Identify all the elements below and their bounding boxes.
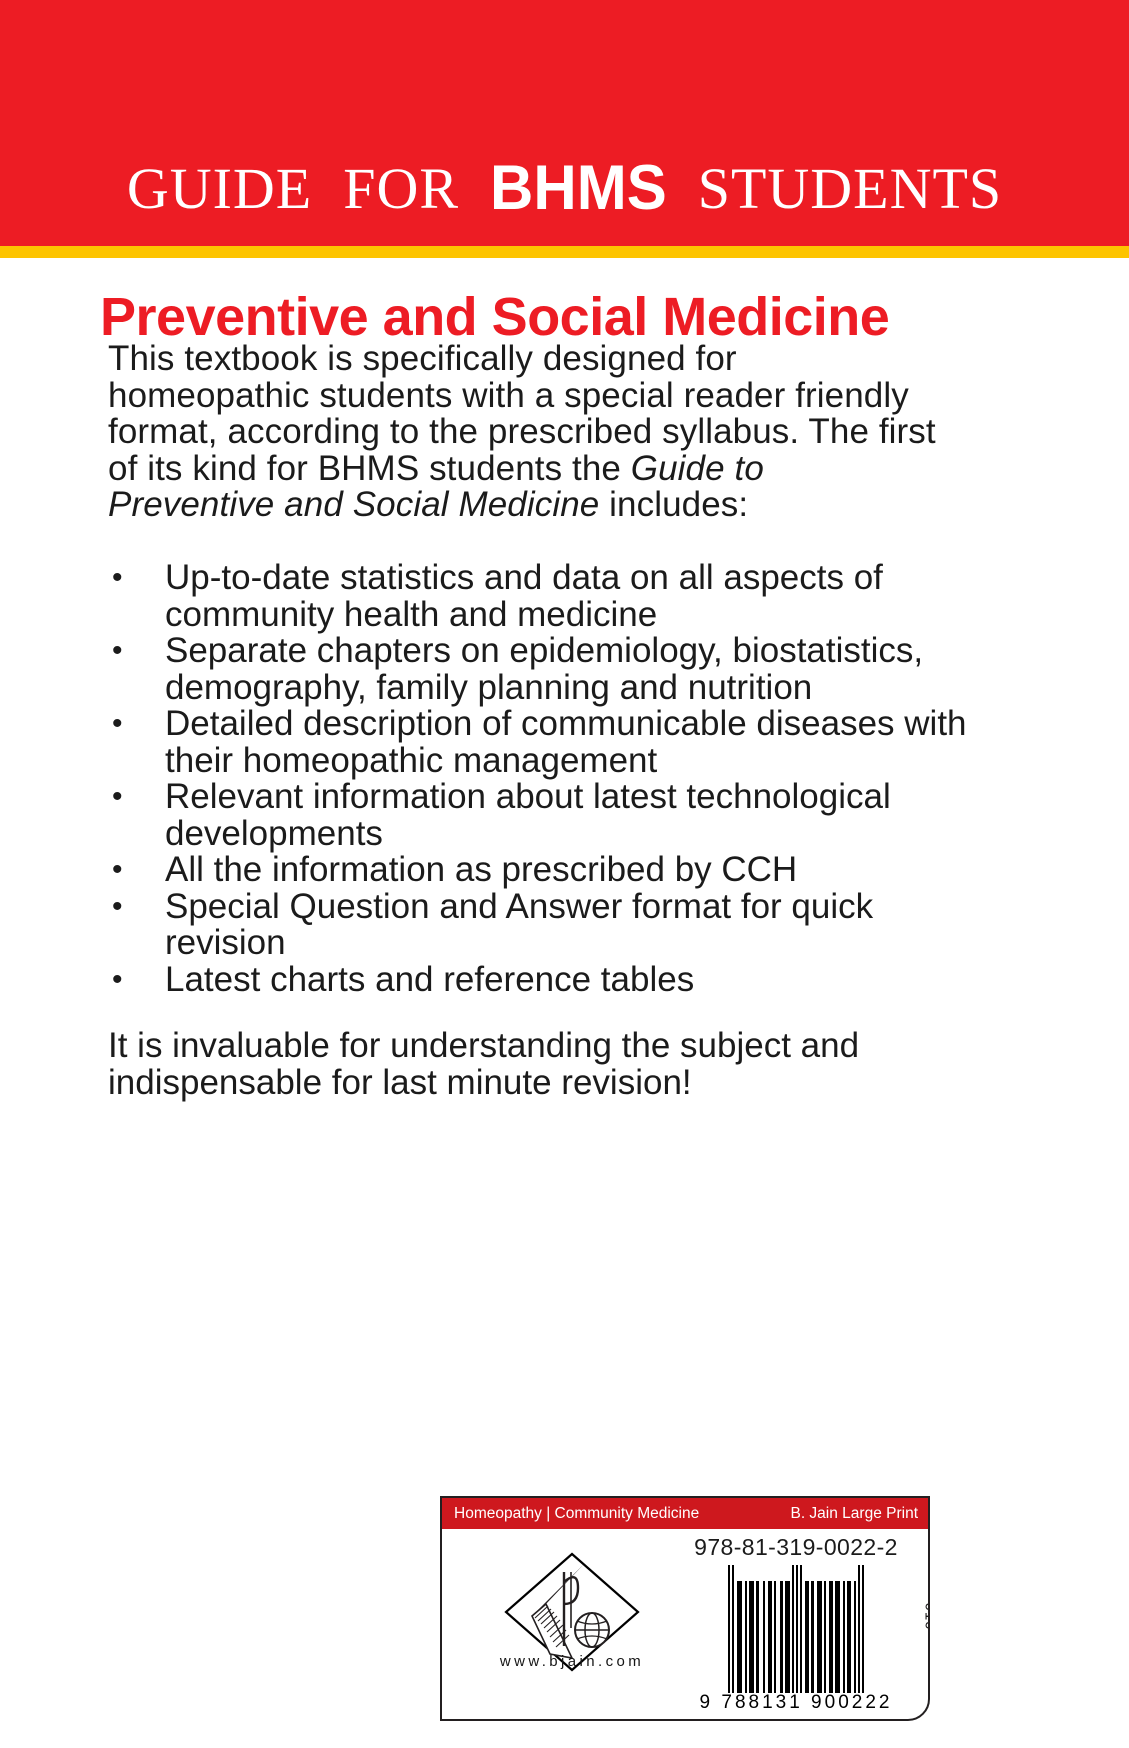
- banner-word-students: STUDENTS: [698, 156, 1002, 221]
- bullet-dot-icon: •: [108, 962, 165, 999]
- isbn-barcode-card: Homeopathy | Community Medicine B. Jain …: [440, 1496, 930, 1721]
- feature-bullet-list: • Up-to-date statistics and data on all …: [108, 560, 968, 998]
- list-item-label: Special Question and Answer format for q…: [165, 889, 968, 962]
- series-banner-title: GUIDE FOR BHMS STUDENTS: [0, 158, 1129, 218]
- bullet-dot-icon: •: [108, 779, 165, 816]
- isbn-number-label: 978-81-319-0022-2: [670, 1534, 922, 1561]
- publisher-website-label: www.bjain.com: [452, 1653, 692, 1670]
- list-item-label: Detailed description of communicable dis…: [165, 706, 968, 779]
- list-item: • All the information as prescribed by C…: [108, 852, 968, 889]
- list-item: • Relevant information about latest tech…: [108, 779, 968, 852]
- list-item-label: Latest charts and reference tables: [165, 962, 968, 999]
- closing-paragraph: It is invaluable for understanding the s…: [108, 1028, 948, 1101]
- banner-word-guide: GUIDE: [127, 156, 312, 221]
- barcode-area: 978-81-319-0022-2: [670, 1534, 922, 1714]
- page-title: Preventive and Social Medicine: [100, 290, 1050, 345]
- list-item-label: Separate chapters on epidemiology, biost…: [165, 633, 968, 706]
- list-item: • Detailed description of communicable d…: [108, 706, 968, 779]
- bullet-dot-icon: •: [108, 633, 165, 670]
- bullet-dot-icon: •: [108, 889, 165, 926]
- banner-word-for: FOR: [343, 156, 459, 221]
- list-item-label: All the information as prescribed by CCH: [165, 852, 968, 889]
- bullet-dot-icon: •: [108, 706, 165, 743]
- list-item: • Special Question and Answer format for…: [108, 889, 968, 962]
- bullet-dot-icon: •: [108, 560, 165, 597]
- ean13-barcode: [670, 1565, 922, 1693]
- isbn-card-header: Homeopathy | Community Medicine B. Jain …: [442, 1498, 928, 1529]
- blurb-paragraph: This textbook is specifically designed f…: [108, 341, 936, 524]
- barcode-digits-label: 9 788131 900222: [670, 1692, 922, 1714]
- side-code-label: 010: [921, 1602, 928, 1630]
- blurb-text-tail: includes:: [599, 485, 748, 524]
- banner-word-bhms: BHMS: [490, 157, 667, 220]
- yellow-divider-stripe: [0, 246, 1129, 258]
- list-item: • Up-to-date statistics and data on all …: [108, 560, 968, 633]
- bullet-dot-icon: •: [108, 852, 165, 889]
- imprint-label: B. Jain Large Print: [790, 1498, 918, 1529]
- top-red-banner: GUIDE FOR BHMS STUDENTS: [0, 0, 1129, 246]
- list-item-label: Relevant information about latest techno…: [165, 779, 968, 852]
- subject-category-label: Homeopathy | Community Medicine: [454, 1498, 699, 1529]
- list-item-label: Up-to-date statistics and data on all as…: [165, 560, 968, 633]
- list-item: • Latest charts and reference tables: [108, 962, 968, 999]
- list-item: • Separate chapters on epidemiology, bio…: [108, 633, 968, 706]
- blurb-text-lead: This textbook is specifically designed f…: [108, 339, 936, 488]
